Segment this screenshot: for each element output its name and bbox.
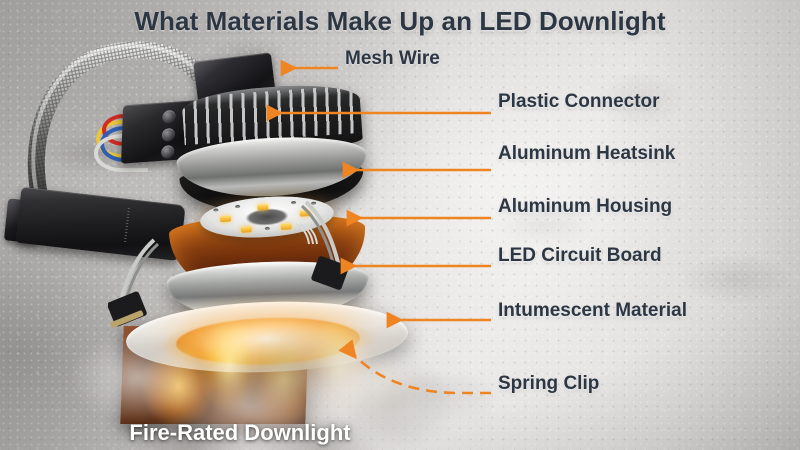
callout-label-plastic-connector: Plastic Connector	[498, 91, 660, 113]
led-chip	[257, 204, 268, 211]
downlight-product-illustration	[0, 30, 440, 430]
callout-label-mesh-wire: Mesh Wire	[345, 48, 440, 70]
pcb-mounting-hole	[213, 208, 218, 211]
screw-terminal	[162, 110, 175, 124]
spring-clip-right	[294, 198, 350, 294]
pcb-mounting-hole	[265, 227, 270, 230]
callout-label-aluminum-heatsink: Aluminum Heatsink	[498, 143, 675, 165]
spring-clip-left	[108, 236, 164, 332]
callout-label-spring-clip: Spring Clip	[498, 373, 599, 395]
footer-caption: Fire-Rated Downlight	[120, 420, 360, 446]
led-chip	[241, 226, 252, 233]
callout-label-intumescent-material: Intumescent Material	[498, 300, 687, 322]
callout-label-aluminum-housing: Aluminum Housing	[498, 196, 672, 218]
callout-label-led-circuit-board: LED Circuit Board	[498, 245, 662, 267]
led-chip	[220, 216, 231, 223]
screw-terminal	[161, 145, 174, 159]
pcb-mounting-hole	[235, 205, 240, 208]
led-chip	[281, 223, 292, 230]
infographic-canvas: What Materials Make Up an LED Downlight …	[0, 0, 800, 450]
screw-terminal	[162, 128, 175, 142]
page-title: What Materials Make Up an LED Downlight	[0, 6, 800, 37]
